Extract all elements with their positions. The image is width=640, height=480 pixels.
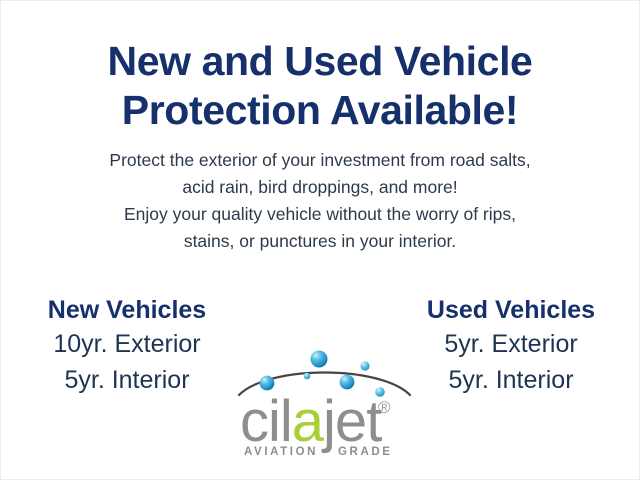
body-copy-line-3: Enjoy your quality vehicle without the w… <box>1 201 639 228</box>
cilajet-logo-graphic: cilajet ® AVIATION GRADE <box>237 345 412 457</box>
bubble-icon <box>340 375 355 390</box>
registered-trademark-icon: ® <box>378 398 391 417</box>
logo-tagline-right: GRADE <box>338 446 393 457</box>
bubble-icon <box>311 351 328 368</box>
bubble-icon <box>360 361 369 370</box>
used-vehicles-exterior: 5yr. Exterior <box>393 326 629 362</box>
cilajet-logo: cilajet ® AVIATION GRADE <box>237 345 412 457</box>
used-vehicles-interior: 5yr. Interior <box>393 362 629 398</box>
logo-tagline-left: AVIATION <box>244 446 318 457</box>
body-copy: Protect the exterior of your investment … <box>1 147 639 255</box>
headline-line-1: New and Used Vehicle <box>1 37 639 86</box>
logo-wordmark: cilajet <box>240 389 382 454</box>
logo-wordmark-suffix: jet <box>321 389 382 454</box>
new-vehicles-exterior: 10yr. Exterior <box>9 326 245 362</box>
logo-wordmark-accent: a <box>292 389 325 454</box>
body-copy-line-2: acid rain, bird droppings, and more! <box>1 174 639 201</box>
body-copy-line-1: Protect the exterior of your investment … <box>1 147 639 174</box>
new-vehicles-title: New Vehicles <box>9 294 245 326</box>
promo-slide: New and Used Vehicle Protection Availabl… <box>0 0 640 480</box>
body-copy-line-4: stains, or punctures in your interior. <box>1 228 639 255</box>
coverage-column-used: Used Vehicles 5yr. Exterior 5yr. Interio… <box>393 294 629 398</box>
coverage-column-new: New Vehicles 10yr. Exterior 5yr. Interio… <box>9 294 245 398</box>
bubble-icon <box>304 373 311 380</box>
logo-wordmark-prefix: cil <box>240 389 292 454</box>
page-title: New and Used Vehicle Protection Availabl… <box>1 37 639 135</box>
used-vehicles-title: Used Vehicles <box>393 294 629 326</box>
new-vehicles-interior: 5yr. Interior <box>9 362 245 398</box>
headline-line-2: Protection Available! <box>1 86 639 135</box>
